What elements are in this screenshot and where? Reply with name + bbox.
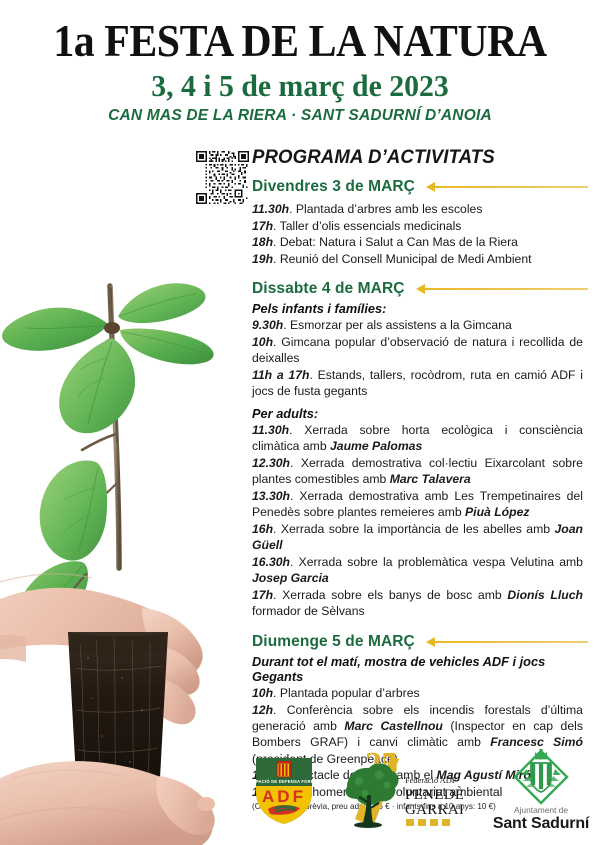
entry-tail: formador de Sèlvans [252,604,365,618]
list-item: 9.30h. Esmorzar per als assistens a la G… [252,317,583,333]
entry-speaker: Marc Talavera [390,472,471,486]
list-item: 10h. Plantada popular d’arbres [252,685,583,701]
list-item: 16h. Xerrada sobre la importància de les… [252,521,583,554]
ajuntament-line2: Sant Sadurní [493,815,590,831]
adf-logo: AGRUPACIÓ DE DEFENSA FORESTAL ADF [252,752,316,828]
entry-time: 16h [252,522,273,536]
day-lead-diumenge: Durant tot el matí, mostra de vehicles A… [252,654,588,684]
entry-text: . Xerrada sobre els banys de bosc amb [273,588,507,602]
entry-speaker: Jaume Palomas [330,439,422,453]
list-item: 18h. Debat: Natura i Salut a Can Mas de … [252,234,583,250]
entry-text: . Xerrada sobre la importància de les ab… [273,522,554,536]
ajuntament-line1: Ajuntament de [514,805,568,815]
entry-time: 13.30h [252,489,290,503]
list-item: 11h a 17h. Estands, tallers, rocòdrom, r… [252,367,583,400]
event-location: CAN MAS DE LA RIERA · SANT SADURNÍ D’ANO… [9,107,591,125]
day-label-divendres: Divendres 3 de MARÇ [252,178,415,196]
entry-time: 11h a 17h [252,368,309,382]
list-item: 11.30h. Xerrada sobre horta ecològica i … [252,422,583,455]
entry-time: 17h [252,588,273,602]
day-header-dissabte: Dissabte 4 de MARÇ [252,280,588,298]
list-item: 12.30h. Xerrada demostrativa col·lectiu … [252,455,583,488]
sponsor-logos: AGRUPACIÓ DE DEFENSA FORESTAL ADF 25 any… [252,744,597,836]
day-label-diumenge: Diumenge 5 de MARÇ [252,633,415,651]
arrow-icon-dissabte [416,284,588,294]
list-item: 13.30h. Xerrada demostrativa amb Les Tre… [252,488,583,521]
federacio-line2: PENEDÈS [405,786,463,803]
entry-time: 10h [252,686,273,700]
entry-speaker: Piuà López [465,505,529,519]
federacio-adf-penedes-garraf-logo: 25 anys Federació ADF [339,749,463,831]
event-dates: 3, 4 i 5 de març de 2023 [12,69,588,103]
entries-divendres: 11.30h. Plantada d’arbres amb les escole… [252,201,588,268]
list-item: 17h. Taller d’olis essencials medicinals [252,218,583,234]
adf-subtext: AGRUPACIÓ DE DEFENSA FORESTAL [252,779,316,784]
svg-text:ADF: ADF [262,787,306,806]
program-section: PROGRAMA D’ACTIVITATS Divendres 3 de MAR… [252,148,588,812]
entry-time: 11.30h [252,202,289,216]
entries-dissabte-infants: 9.30h. Esmorzar per als assistens a la G… [252,317,588,399]
seedling-photo [0,138,242,845]
qr-code[interactable] [196,151,249,204]
entry-time: 16.30h [252,555,290,569]
entry-text: . Xerrada sobre la problemàtica vespa Ve… [290,555,583,569]
entry-text: . Taller d’olis essencials medicinals [273,219,461,233]
entry-text: . Plantada popular d’arbres [273,686,420,700]
group-heading-adults: Per adults: [252,406,588,421]
entry-time: 11.30h [252,423,289,437]
ajuntament-sant-sadurni-logo: Ajuntament de Sant Sadurní [485,749,597,831]
list-item: 16.30h. Xerrada sobre la problemàtica ve… [252,554,583,587]
entry-speaker: Josep Garcia [252,571,329,585]
entry-time: 12.30h [252,456,290,470]
day-label-dissabte: Dissabte 4 de MARÇ [252,280,405,298]
entry-text: . Plantada d’arbres amb les escoles [289,202,482,216]
federacio-line1: Federació ADF [405,776,457,785]
arrow-icon-divendres [426,182,588,192]
program-heading: PROGRAMA D’ACTIVITATS [252,148,581,169]
entry-speaker: Marc Castellnou [344,719,442,733]
entry-text: . Xerrada demostrativa amb Les Trempetin… [252,489,583,519]
entry-time: 9.30h [252,318,283,332]
entry-text: . Debat: Natura i Salut a Can Mas de la … [273,235,518,249]
entry-speaker: Dionís Lluch [507,588,583,602]
list-item: 11.30h. Plantada d’arbres amb les escole… [252,201,583,217]
poster-canvas: 1a FESTA DE LA NATURA 3, 4 i 5 de març d… [0,0,600,845]
entry-time: 17h [252,219,273,233]
entry-time: 12h [252,703,273,717]
entry-text: . Esmorzar per als assistens a la Gimcan… [283,318,512,332]
entry-text: . Reunió del Consell Municipal de Medi A… [273,252,531,266]
federacio-line3: GARRAF [405,802,463,818]
list-item: 19h. Reunió del Consell Municipal de Med… [252,251,583,267]
day-header-divendres: Divendres 3 de MARÇ [252,178,588,196]
entry-time: 18h [252,235,273,249]
entry-time: 10h [252,335,273,349]
entries-dissabte-adults: 11.30h. Xerrada sobre horta ecològica i … [252,422,588,620]
entry-time: 19h [252,252,273,266]
list-item: 17h. Xerrada sobre els banys de bosc amb… [252,587,583,620]
group-heading-infants: Pels infants i famílies: [252,301,588,316]
page-title: 1a FESTA DE LA NATURA [21,18,579,65]
arrow-icon-diumenge [426,637,588,647]
entry-text: . Gimcana popular d’observació de natura… [252,335,583,365]
day-header-diumenge: Diumenge 5 de MARÇ [252,633,588,651]
list-item: 10h. Gimcana popular d’observació de nat… [252,334,583,367]
title-block: 1a FESTA DE LA NATURA 3, 4 i 5 de març d… [0,18,600,125]
